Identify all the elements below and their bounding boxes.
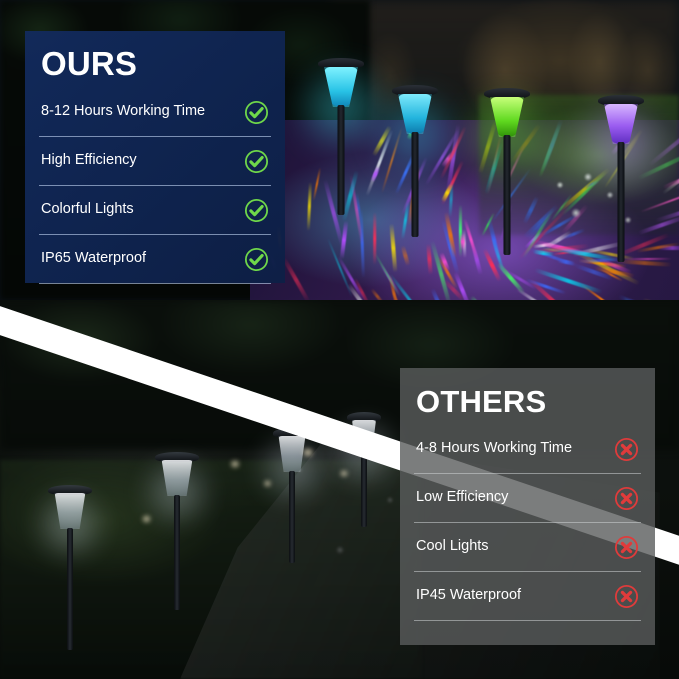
check-circle-icon [244,149,269,174]
path-glint [262,480,273,487]
ours-title: OURS [41,47,271,80]
lamp-stem [289,471,295,563]
check-circle-icon [244,198,269,223]
lamp-stem [504,135,511,255]
row-divider [414,620,641,621]
solar-lamp-white-4 [345,412,383,562]
path-glint [338,470,350,477]
light-ray [282,256,310,302]
row-divider [39,234,271,235]
check-circle-icon [244,100,269,125]
lamp-stem [361,455,367,527]
others-feature-list: 4-8 Hours Working Time Low Efficiency [414,431,641,621]
row-divider [39,185,271,186]
list-item: Colorful Lights [39,192,271,235]
solar-lamp-white-1 [48,485,92,665]
ours-panel: OURS 8-12 Hours Working Time High Effici… [25,31,285,283]
solar-lamp-green [484,88,530,288]
path-glint [140,515,153,523]
solar-lamp-purple [598,95,644,295]
list-item: Low Efficiency [414,480,641,523]
feature-label: High Efficiency [41,152,137,169]
feature-label: Colorful Lights [41,201,134,218]
list-item: IP65 Waterproof [39,241,271,284]
list-item: IP45 Waterproof [414,578,641,621]
solar-lamp-cyan [318,58,364,258]
lamp-stem [412,132,419,237]
ours-feature-list: 8-12 Hours Working Time High Efficiency [39,94,271,284]
light-ray [373,212,376,265]
light-ray [557,259,576,267]
list-item: 4-8 Hours Working Time [414,431,641,474]
feature-label: IP65 Waterproof [41,250,146,267]
x-circle-icon [614,437,639,462]
list-item: High Efficiency [39,143,271,186]
row-divider [39,283,271,284]
x-circle-icon [614,486,639,511]
light-ray [307,182,312,231]
lamp-stem [618,142,625,262]
lamp-stem [338,105,345,215]
x-circle-icon [614,535,639,560]
comparison-image: OURS 8-12 Hours Working Time High Effici… [0,0,679,679]
feature-label: 8-12 Hours Working Time [41,103,205,120]
path-glint [300,448,316,457]
list-item: 8-12 Hours Working Time [39,94,271,137]
feature-label: Cool Lights [416,538,489,555]
row-divider [414,571,641,572]
x-circle-icon [614,584,639,609]
feature-label: Low Efficiency [416,489,508,506]
solar-lamp-teal [392,85,438,275]
others-title: OTHERS [416,386,641,417]
solar-lamp-white-2 [155,452,199,637]
light-ray [460,233,465,250]
others-panel: OTHERS 4-8 Hours Working Time Low Effici… [400,368,655,645]
feature-label: IP45 Waterproof [416,587,521,604]
row-divider [414,473,641,474]
check-circle-icon [244,247,269,272]
lamp-stem [174,495,180,610]
lamp-stem [67,528,73,650]
row-divider [414,522,641,523]
feature-label: 4-8 Hours Working Time [416,440,572,457]
path-glint [228,460,242,468]
list-item: Cool Lights [414,529,641,572]
row-divider [39,136,271,137]
